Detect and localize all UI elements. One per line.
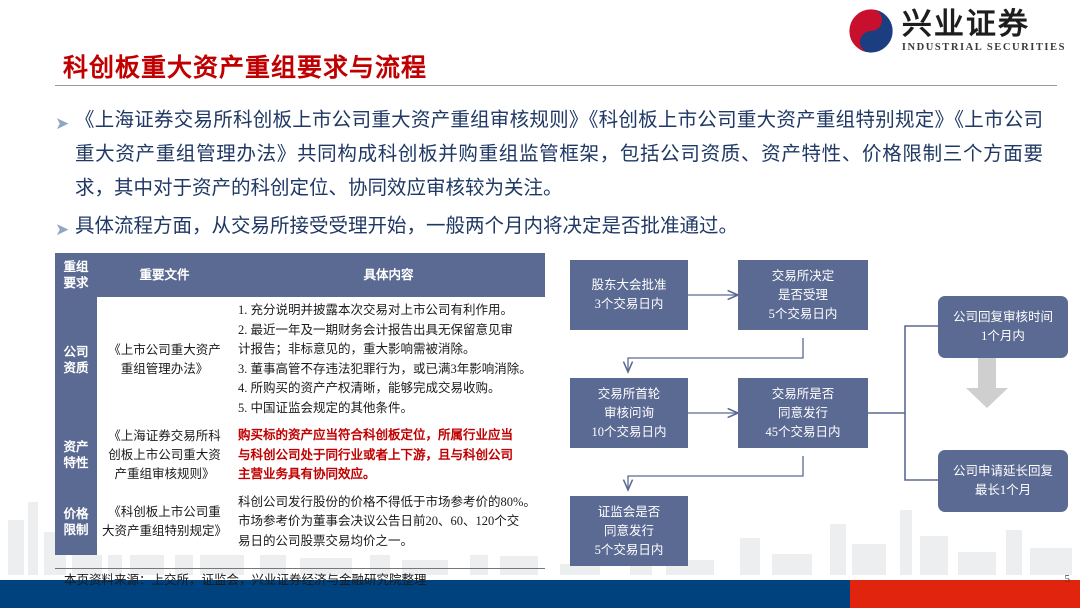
- row-requirement-label: 价格 限制: [55, 489, 97, 556]
- req-line2: 限制: [55, 522, 97, 538]
- approval-flowchart: 股东大会批准 3个交易日内 交易所决定 是否受理 5个交易日内 交易所首轮 审核…: [560, 248, 1080, 568]
- bullet-paragraph-1: ➤ 《上海证券交易所科创板上市公司重大资产重组审核规则》《科创板上市公司重大资产…: [55, 104, 1055, 206]
- content-line: 1. 充分说明并披露本次交易对上市公司有利作用。: [238, 301, 541, 321]
- content-line: 市场参考价为董事会决议公告日前20、60、120个交: [238, 512, 541, 532]
- table-header-document: 重要文件: [97, 253, 232, 297]
- row-document: 《科创板上市公司重 大资产重组特别规定》: [97, 489, 232, 556]
- content-line: 5. 中国证监会规定的其他条件。: [238, 399, 541, 419]
- company-logo: 兴业证券 INDUSTRIAL SECURITIES: [848, 8, 1066, 54]
- logo-swirl-icon: [848, 8, 894, 54]
- slide-canvas: 兴业证券 INDUSTRIAL SECURITIES 科创板重大资产重组要求与流…: [0, 0, 1080, 608]
- flow-box-shareholder-approval: 股东大会批准 3个交易日内: [570, 260, 688, 330]
- flow-line: 10个交易日内: [591, 423, 666, 442]
- req-line1: 资产: [55, 439, 97, 455]
- flow-line: 交易所首轮: [598, 385, 661, 404]
- doc-line2: 重组管理办法》: [100, 360, 229, 379]
- row-content: 科创公司发行股份的价格不得低于市场参考价的80%。 市场参考价为董事会决议公告日…: [232, 489, 545, 556]
- content-line: 与科创公司处于同行业或者上下游，且与科创公司: [238, 446, 541, 466]
- flow-box-company-reply-time: 公司回复审核时间 1个月内: [938, 296, 1068, 358]
- table-row: 公司 资质 《上市公司重大资产 重组管理办法》 1. 充分说明并披露本次交易对上…: [55, 297, 545, 422]
- row-content-highlighted: 购买标的资产应当符合科创板定位，所属行业应当 与科创公司处于同行业或者上下游，且…: [232, 422, 545, 489]
- doc-line1: 《科创板上市公司重: [100, 503, 229, 522]
- doc-line2: 创板上市公司重大资: [100, 446, 229, 465]
- req-line1: 公司: [55, 344, 97, 360]
- flow-line: 公司申请延长回复: [953, 462, 1053, 481]
- row-document: 《上海证券交易所科 创板上市公司重大资 产重组审核规则》: [97, 422, 232, 489]
- flow-box-company-extend-reply: 公司申请延长回复 最长1个月: [938, 450, 1068, 512]
- content-line: 3. 董事高管不存违法犯罪行为，或已满3年影响消除。: [238, 360, 541, 380]
- content-line: 2. 最近一年及一期财务会计报告出具无保留意见审: [238, 321, 541, 341]
- content-line: 易日的公司股票交易均价之一。: [238, 532, 541, 552]
- logo-name-en: INDUSTRIAL SECURITIES: [902, 41, 1066, 54]
- page-number: 5: [1065, 573, 1071, 585]
- content-line: 科创公司发行股份的价格不得低于市场参考价的80%。: [238, 493, 541, 513]
- flow-line: 3个交易日内: [595, 295, 664, 314]
- doc-line2: 大资产重组特别规定》: [100, 522, 229, 541]
- flow-line: 审核问询: [604, 404, 654, 423]
- bullet-text-2: 具体流程方面，从交易所接受受理开始，一般两个月内将决定是否批准通过。: [75, 210, 738, 247]
- content-line: 4. 所购买的资产产权清晰，能够完成交易收购。: [238, 379, 541, 399]
- table-row: 价格 限制 《科创板上市公司重 大资产重组特别规定》 科创公司发行股份的价格不得…: [55, 489, 545, 556]
- title-divider: [55, 85, 1057, 86]
- content-line: 购买标的资产应当符合科创板定位，所属行业应当: [238, 426, 541, 446]
- flow-line: 是否受理: [778, 286, 828, 305]
- bullet-arrow-icon: ➤: [55, 210, 75, 247]
- row-requirement-label: 公司 资质: [55, 297, 97, 422]
- row-document: 《上市公司重大资产 重组管理办法》: [97, 297, 232, 422]
- req-line2: 特性: [55, 455, 97, 471]
- req-line1: 价格: [55, 506, 97, 522]
- content-line: 计报告；非标意见的，重大影响需被消除。: [238, 340, 541, 360]
- bullet-text-1: 《上海证券交易所科创板上市公司重大资产重组审核规则》《科创板上市公司重大资产重组…: [75, 104, 1043, 206]
- doc-line3: 产重组审核规则》: [100, 465, 229, 484]
- table-header-content: 具体内容: [232, 253, 545, 297]
- page-title: 科创板重大资产重组要求与流程: [63, 48, 427, 84]
- flow-line: 5个交易日内: [769, 305, 838, 324]
- req-line2: 资质: [55, 360, 97, 376]
- table-header-requirement: 重组 要求: [55, 253, 97, 297]
- table-header-row: 重组 要求 重要文件 具体内容: [55, 253, 545, 297]
- flow-line: 同意发行: [604, 522, 654, 541]
- flow-line: 股东大会批准: [591, 276, 666, 295]
- footer-bar-red: [850, 580, 1080, 608]
- bullet-arrow-icon: ➤: [55, 104, 75, 206]
- row-requirement-label: 资产 特性: [55, 422, 97, 489]
- flow-line: 5个交易日内: [595, 541, 664, 560]
- source-note: 本页资料来源：上交所，证监会，兴业证券经济与金融研究院整理: [64, 569, 427, 588]
- header-req-line1: 重组: [57, 259, 95, 275]
- flow-line: 公司回复审核时间: [953, 308, 1053, 327]
- flow-box-exchange-first-review: 交易所首轮 审核问询 10个交易日内: [570, 378, 688, 448]
- gray-down-arrow-icon: [965, 358, 1009, 410]
- flow-line: 交易所是否: [772, 385, 835, 404]
- doc-line1: 《上海证券交易所科: [100, 427, 229, 446]
- logo-name-cn: 兴业证券: [902, 9, 1066, 41]
- flow-box-exchange-agree-issue: 交易所是否 同意发行 45个交易日内: [738, 378, 868, 448]
- flow-line: 同意发行: [778, 404, 828, 423]
- flow-line: 交易所决定: [772, 267, 835, 286]
- flow-box-csrc-agree-issue: 证监会是否 同意发行 5个交易日内: [570, 496, 688, 566]
- flow-line: 证监会是否: [598, 503, 661, 522]
- flow-box-exchange-accept: 交易所决定 是否受理 5个交易日内: [738, 260, 868, 330]
- flow-line: 45个交易日内: [765, 423, 840, 442]
- flow-line: 1个月内: [981, 327, 1025, 346]
- content-line: 主营业务具有协同效应。: [238, 465, 541, 485]
- requirements-table: 重组 要求 重要文件 具体内容 公司 资质 《上市公司重大资产 重组管理办法》: [55, 253, 545, 555]
- flow-line: 最长1个月: [975, 481, 1031, 500]
- header-req-line2: 要求: [57, 275, 95, 291]
- table-row: 资产 特性 《上海证券交易所科 创板上市公司重大资 产重组审核规则》 购买标的资…: [55, 422, 545, 489]
- bullet-paragraph-2: ➤ 具体流程方面，从交易所接受受理开始，一般两个月内将决定是否批准通过。: [55, 210, 1055, 247]
- doc-line1: 《上市公司重大资产: [100, 341, 229, 360]
- row-content: 1. 充分说明并披露本次交易对上市公司有利作用。 2. 最近一年及一期财务会计报…: [232, 297, 545, 422]
